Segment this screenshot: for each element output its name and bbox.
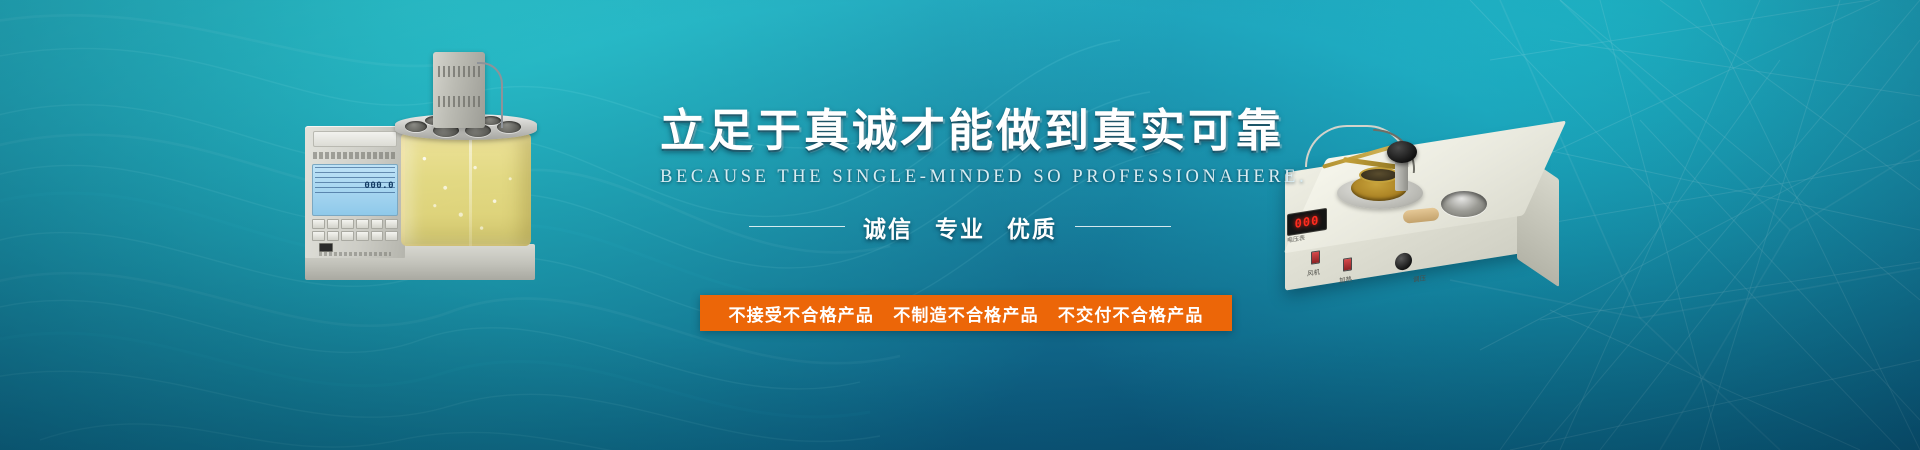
flash-point-cooling-well bbox=[1441, 191, 1487, 217]
quality-slogan-text: 不接受不合格产品 不制造不合格产品 不交付不合格产品 bbox=[722, 301, 1209, 326]
flash-point-stirrer-knob bbox=[1387, 141, 1417, 163]
divider-line-left bbox=[749, 226, 845, 227]
tagline-item-professional: 专业 bbox=[935, 210, 985, 244]
viscometer-key bbox=[385, 219, 398, 229]
slogan-part-no-produce: 不制造不合格产品 bbox=[887, 306, 1045, 326]
banner-copy-block: 立足于真诚才能做到真实可靠 BECAUSE THE SINGLE-MINDED … bbox=[660, 108, 1260, 244]
viscometer-printer-slot bbox=[313, 131, 397, 147]
slogan-part-no-deliver: 不交付不合格产品 bbox=[1052, 306, 1210, 326]
flash-point-cup-opening bbox=[1359, 167, 1399, 183]
viscometer-key bbox=[341, 219, 354, 229]
viscometer-key bbox=[312, 219, 325, 229]
banner-headline: 立足于真诚才能做到真实可靠 bbox=[660, 108, 1260, 155]
viscometer-oil-bath bbox=[401, 134, 531, 246]
viscometer-heater-vents bbox=[438, 66, 480, 77]
viscometer-keypad bbox=[312, 219, 398, 241]
flash-point-fan-label: 风机 bbox=[1307, 266, 1320, 278]
viscometer-lcd-screen: 000.0 bbox=[312, 164, 398, 216]
quality-slogan-bar: 不接受不合格产品 不制造不合格产品 不交付不合格产品 bbox=[700, 295, 1232, 331]
flash-point-knob-label: 调压 bbox=[1413, 272, 1426, 284]
viscometer-control-panel: 000.0 bbox=[305, 126, 405, 258]
viscometer-key bbox=[371, 219, 384, 229]
viscometer-brand-text bbox=[319, 252, 391, 256]
viscometer-tube-port bbox=[405, 121, 427, 132]
viscometer-instrument-image: 000.0 bbox=[305, 55, 535, 280]
viscometer-key bbox=[371, 231, 384, 241]
promo-banner: 000.0 bbox=[0, 0, 1920, 450]
viscometer-heater-vents bbox=[438, 96, 480, 107]
viscometer-model-label bbox=[313, 152, 397, 159]
viscometer-key bbox=[341, 231, 354, 241]
flash-point-heat-switch[interactable] bbox=[1343, 257, 1352, 271]
viscometer-key bbox=[356, 231, 369, 241]
banner-tagline-row: 诚信 专业 优质 bbox=[660, 210, 1260, 244]
flash-point-fan-switch[interactable] bbox=[1311, 250, 1320, 264]
divider-line-right bbox=[1075, 226, 1171, 227]
banner-subheadline: BECAUSE THE SINGLE-MINDED SO PROFESSIONA… bbox=[660, 167, 1260, 188]
viscometer-key bbox=[327, 231, 340, 241]
flash-point-heat-label: 加热 bbox=[1339, 273, 1352, 285]
viscometer-glass-highlight bbox=[469, 134, 472, 246]
viscometer-temperature-readout: 000.0 bbox=[364, 181, 394, 191]
viscometer-power-switch bbox=[319, 243, 333, 252]
viscometer-key bbox=[385, 231, 398, 241]
viscometer-key bbox=[356, 219, 369, 229]
viscometer-bubbles bbox=[401, 134, 531, 246]
tagline-item-quality: 优质 bbox=[1007, 210, 1057, 244]
flash-point-tester-image: 000 电压表 风机 加热 调压 bbox=[1285, 125, 1585, 305]
viscometer-key bbox=[327, 219, 340, 229]
slogan-part-no-accept: 不接受不合格产品 bbox=[722, 306, 880, 326]
viscometer-key bbox=[312, 231, 325, 241]
tagline-item-integrity: 诚信 bbox=[863, 210, 913, 244]
banner-tagline-group: 诚信 专业 优质 bbox=[863, 210, 1057, 244]
viscometer-sensor-cable bbox=[477, 62, 503, 128]
flash-point-voltage-readout: 000 bbox=[1295, 213, 1320, 231]
